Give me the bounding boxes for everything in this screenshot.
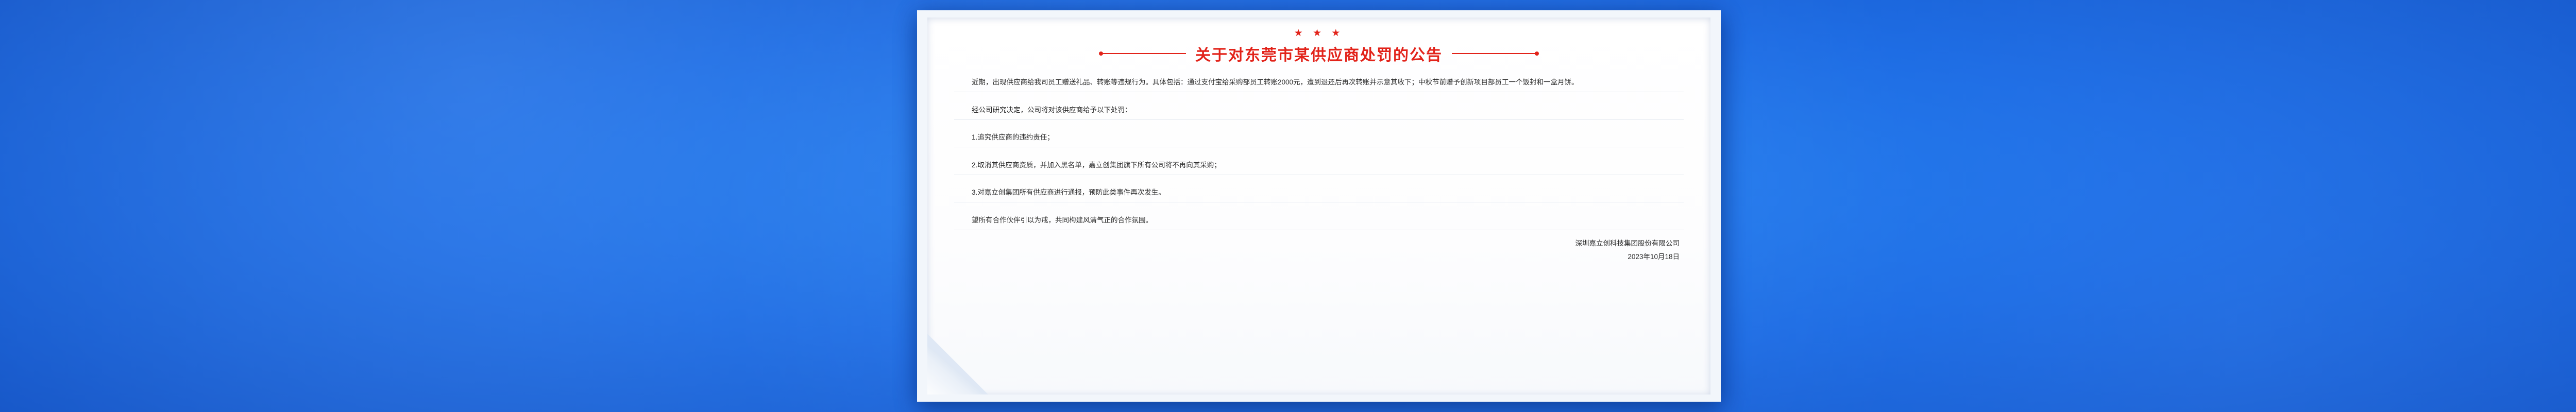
paragraph: 望所有合作伙伴引以为戒，共同构建风清气正的合作氛围。 [954, 210, 1684, 230]
title-row: 关于对东莞市某供应商处罚的公告 [954, 42, 1684, 65]
announcement-body: 近期，出现供应商给我司员工赠送礼品、转账等违规行为。具体包括：通过支付宝给采购部… [954, 74, 1684, 230]
paragraph-text: 1.追究供应商的违约责任； [972, 133, 1054, 141]
rule-right-icon [1452, 53, 1538, 54]
paragraph: 3.对嘉立创集团所有供应商进行通报，预防此类事件再次发生。 [954, 182, 1684, 202]
poster-paper: ★ ★ ★ 关于对东莞市某供应商处罚的公告 近期，出现供应商给我司员工赠送礼品、… [927, 18, 1710, 394]
announcement-poster: ★ ★ ★ 关于对东莞市某供应商处罚的公告 近期，出现供应商给我司员工赠送礼品、… [917, 10, 1721, 402]
paragraph-text: 3.对嘉立创集团所有供应商进行通报，预防此类事件再次发生。 [972, 188, 1165, 196]
rule-left-icon [1099, 53, 1186, 54]
poster-content: ★ ★ ★ 关于对东莞市某供应商处罚的公告 近期，出现供应商给我司员工赠送礼品、… [954, 22, 1684, 387]
paragraph: 1.追究供应商的违约责任； [954, 127, 1684, 147]
paragraph-text: 经公司研究决定，公司将对该供应商给予以下处罚： [972, 106, 1132, 114]
paragraph-text: 2.取消其供应商资质，并加入黑名单，嘉立创集团旗下所有公司将不再向其采购； [972, 161, 1221, 169]
paragraph: 2.取消其供应商资质，并加入黑名单，嘉立创集团旗下所有公司将不再向其采购； [954, 154, 1684, 175]
page-title: 关于对东莞市某供应商处罚的公告 [1195, 42, 1443, 65]
paragraph-text: 近期，出现供应商给我司员工赠送礼品、转账等违规行为。具体包括：通过支付宝给采购部… [972, 78, 1579, 86]
paragraph-text: 望所有合作伙伴引以为戒，共同构建风清气正的合作氛围。 [972, 216, 1153, 224]
signature-date: 2023年10月18日 [954, 250, 1680, 264]
paragraph: 近期，出现供应商给我司员工赠送礼品、转账等违规行为。具体包括：通过支付宝给采购部… [954, 74, 1684, 92]
poster-frame: ★ ★ ★ 关于对东莞市某供应商处罚的公告 近期，出现供应商给我司员工赠送礼品、… [917, 10, 1721, 402]
paragraph: 经公司研究决定，公司将对该供应商给予以下处罚： [954, 99, 1684, 120]
stars-decoration: ★ ★ ★ [954, 22, 1684, 41]
signature-block: 深圳嘉立创科技集团股份有限公司 2023年10月18日 [954, 237, 1684, 264]
signature-company: 深圳嘉立创科技集团股份有限公司 [954, 237, 1680, 250]
